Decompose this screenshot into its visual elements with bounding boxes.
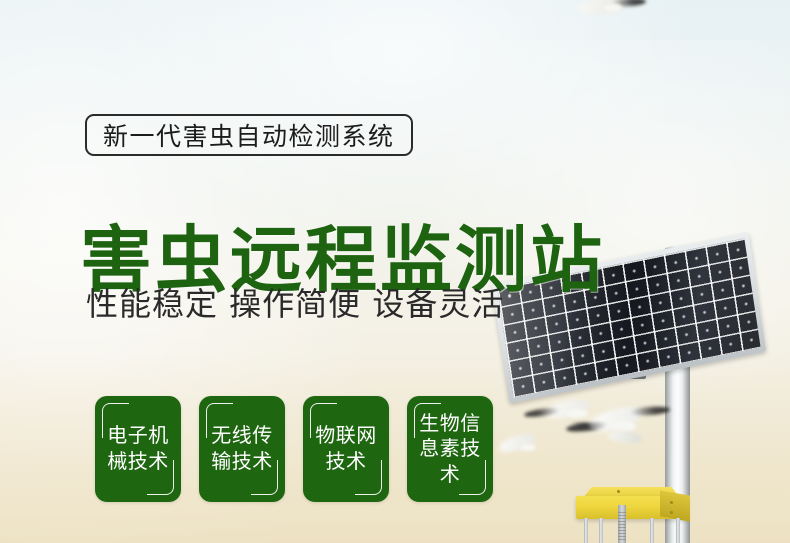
feature-tag[interactable]: 无线传输技术 (199, 396, 285, 502)
collection-rod (599, 518, 603, 543)
moth-wing (607, 429, 642, 445)
moth-body (566, 409, 588, 418)
moth-wing (497, 430, 537, 455)
feature-tag-label: 生物信息素技术 (416, 411, 484, 488)
feature-tag-list: 电子机械技术 无线传输技术 物联网技术 生物信息素技术 (95, 396, 493, 502)
collector-bolt (617, 490, 620, 493)
feature-tag-label: 无线传输技术 (208, 423, 276, 474)
collection-funnel-tube-ribs (618, 512, 626, 542)
collection-rod (584, 518, 588, 543)
yellow-collector-box-side (660, 490, 690, 521)
subtitle-badge: 新一代害虫自动检测系统 (85, 114, 413, 156)
page-subtitle: 性能稳定 操作简便 设备灵活 (86, 285, 504, 323)
feature-tag-label: 物联网技术 (312, 423, 380, 474)
collector-bolt (670, 501, 673, 504)
collector-bolt (670, 511, 673, 514)
feature-tag[interactable]: 电子机械技术 (95, 396, 181, 502)
hero-banner: 新一代害虫自动检测系统 害虫远程监测站 性能稳定 操作简便 设备灵活 电子机械技… (0, 0, 790, 543)
collection-rod (676, 518, 680, 543)
subtitle-badge-label: 新一代害虫自动检测系统 (103, 117, 395, 153)
moth-body (520, 444, 536, 451)
feature-tag[interactable]: 生物信息素技术 (407, 396, 493, 502)
collection-rod (650, 518, 654, 543)
feature-tag-label: 电子机械技术 (104, 423, 172, 474)
feature-tag[interactable]: 物联网技术 (303, 396, 389, 502)
moth-body (604, 4, 622, 12)
